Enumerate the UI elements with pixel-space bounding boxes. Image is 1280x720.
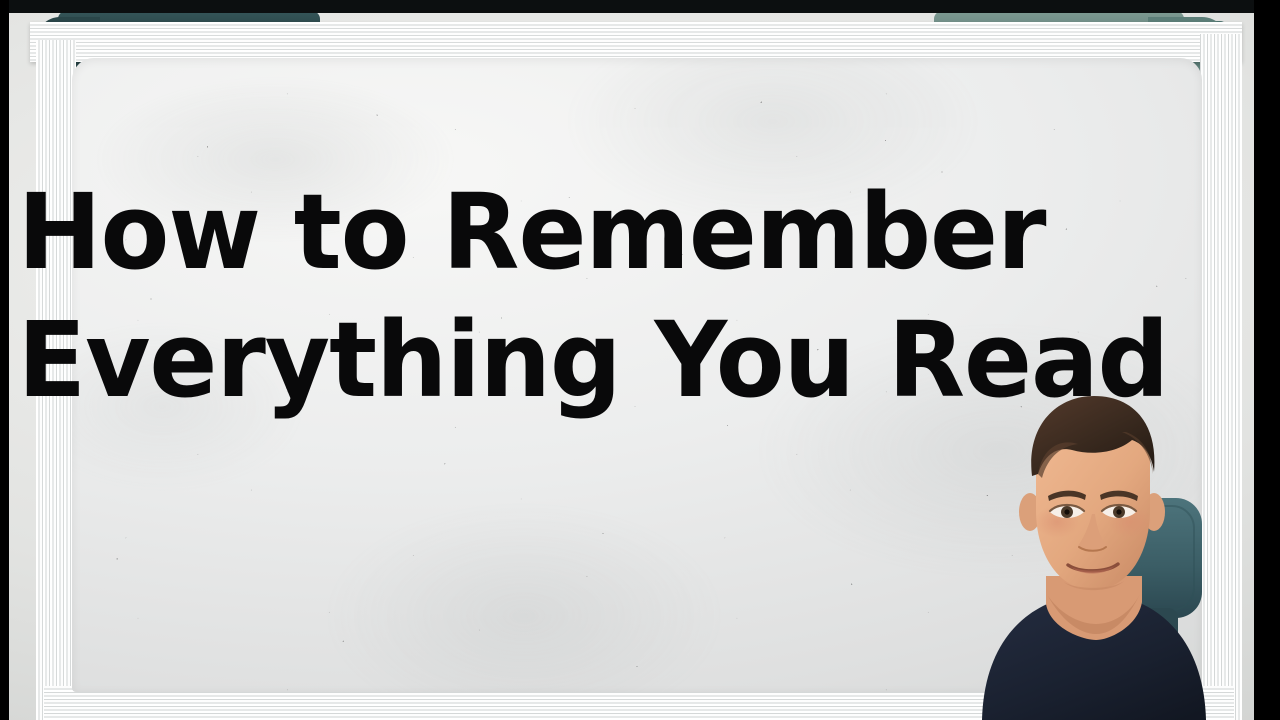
letterbox-bar-top (0, 0, 1280, 13)
presenter-illustration (922, 390, 1262, 720)
video-frame: How to Remember Everything You Read (0, 0, 1280, 720)
whiteboard-frame-top (30, 22, 1242, 62)
video-title-line-2: Everything You Read (18, 310, 983, 412)
video-title-line-1: How to Remember (18, 182, 983, 284)
presenter (922, 390, 1262, 720)
video-title: How to Remember Everything You Read (140, 182, 860, 412)
letterbox-bar-left (0, 0, 9, 720)
letterbox-bar-right (1254, 0, 1280, 720)
